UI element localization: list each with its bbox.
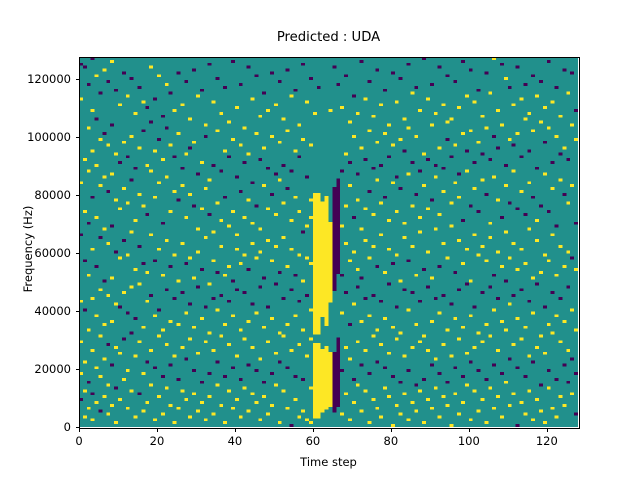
x-tick-label: 120 <box>536 434 558 448</box>
y-tick-mark <box>76 79 80 80</box>
x-tick-mark <box>235 428 236 432</box>
y-tick-label: 120000 <box>27 72 71 86</box>
x-tick-mark <box>79 428 80 432</box>
x-tick-mark <box>313 428 314 432</box>
y-tick-mark <box>76 311 80 312</box>
x-tick-mark <box>391 428 392 432</box>
y-tick-mark <box>76 369 80 370</box>
y-tick-mark <box>76 137 80 138</box>
heatmap-plot-area[interactable] <box>79 57 578 427</box>
x-axis-label: Time step <box>79 455 578 469</box>
heatmap-image <box>79 57 578 427</box>
y-tick-label: 60000 <box>34 246 71 260</box>
x-tick-mark <box>469 428 470 432</box>
x-tick-label: 0 <box>75 434 82 448</box>
x-tick-label: 100 <box>458 434 480 448</box>
y-tick-label: 100000 <box>27 130 71 144</box>
figure-canvas: Predicted : UDA 020000400006000080000100… <box>0 0 640 480</box>
page-title: Predicted : UDA <box>79 30 578 46</box>
y-tick-label: 40000 <box>34 304 71 318</box>
x-tick-label: 80 <box>384 434 399 448</box>
y-tick-mark <box>76 253 80 254</box>
x-tick-label: 40 <box>228 434 243 448</box>
y-tick-label: 0 <box>64 420 71 434</box>
x-tick-label: 20 <box>150 434 165 448</box>
y-axis-label: Frequency (Hz) <box>21 169 35 329</box>
x-tick-mark <box>157 428 158 432</box>
y-tick-mark <box>76 195 80 196</box>
x-tick-label: 60 <box>306 434 321 448</box>
x-tick-mark <box>547 428 548 432</box>
y-tick-label: 80000 <box>34 188 71 202</box>
y-tick-label: 20000 <box>34 362 71 376</box>
